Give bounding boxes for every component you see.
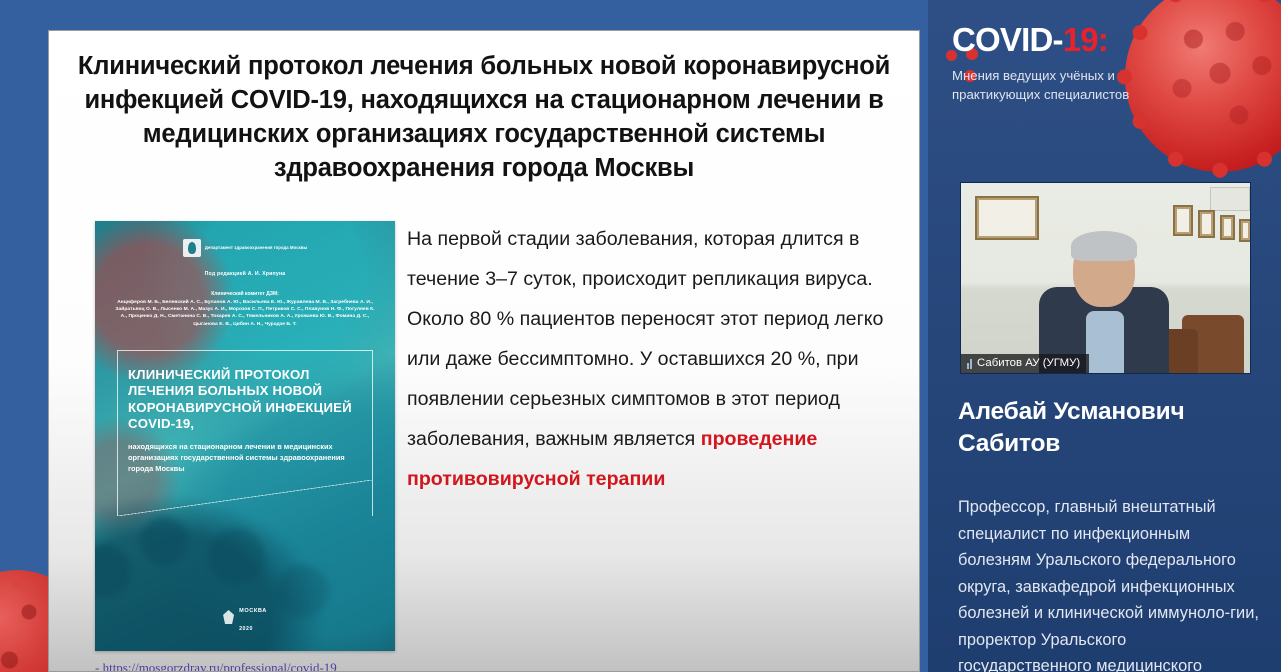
video-participant-name: Сабитов АУ (УГМУ) [977,357,1080,369]
book-editor-line: Под редакцией А. И. Хрипуна [111,271,379,277]
slide-paragraph-text: На первой стадии заболевания, которая дл… [407,228,883,450]
book-cover-column: Департамент здравоохранения города Москв… [49,191,399,671]
department-logo: Департамент здравоохранения города Москв… [111,239,379,257]
slide-content: Департамент здравоохранения города Москв… [49,191,919,671]
speaker-hair-icon [1071,231,1137,261]
book-imprint: МОСКВА 2020 [95,599,395,635]
slide-title: Клинический протокол лечения больных нов… [75,49,893,185]
book-cover-image: Департамент здравоохранения города Москв… [95,221,395,651]
wall-frame-icon [1173,205,1193,236]
book-city: МОСКВА [239,608,267,614]
speaker-name: Алебай Усманович Сабитов [958,396,1257,460]
speaker-bio: Профессор, главный внештатный специалист… [958,494,1263,672]
wall-frame-icon [1220,215,1235,240]
publisher-emblem-icon [223,610,234,624]
video-participant-tile[interactable]: Сабитов АУ (УГМУ) [960,182,1251,374]
department-emblem-icon [183,239,201,257]
slide-paragraph: На первой стадии заболевания, которая дл… [399,191,919,671]
wall-frame-icon [1198,210,1215,238]
brand-subtitle: Мнения ведущих учёных и практикующих спе… [952,66,1167,104]
book-committee-heading: Клинический комитет ДЗМ: [111,291,379,297]
book-sub-title: находящихся на стационарном лечении в ме… [128,441,362,474]
brand-title: COVID-19: [952,22,1281,58]
brand-title-red: 19: [1063,21,1108,58]
book-main-title: КЛИНИЧЕСКИЙ ПРОТОКОЛ ЛЕЧЕНИЯ БОЛЬНЫХ НОВ… [128,367,362,433]
slide-card: Клинический протокол лечения больных нов… [48,30,920,672]
speaker-shirt-icon [1086,311,1124,373]
book-title-frame: КЛИНИЧЕСКИЙ ПРОТОКОЛ ЛЕЧЕНИЯ БОЛЬНЫХ НОВ… [117,350,373,480]
book-year: 2020 [239,626,253,632]
brand-title-white: COVID- [952,21,1063,58]
speaker-panel: COVID-19: Мнения ведущих учёных и практи… [928,0,1281,672]
panel-branding: COVID-19: Мнения ведущих учёных и практи… [928,0,1281,104]
wall-certificate-icon [975,196,1039,240]
source-link[interactable]: - https://mosgorzdrav.ru/professional/co… [95,660,337,672]
presentation-stage: Клинический протокол лечения больных нов… [0,0,1281,672]
book-committee-list: Анциферов М. Б., Белевский А. С., Булано… [111,299,379,328]
wall-frame-icon [1239,219,1251,242]
wall-air-conditioner-icon [1210,187,1250,211]
audio-level-icon [967,358,972,369]
department-logo-text: Департамент здравоохранения города Москв… [205,245,307,250]
video-participant-label: Сабитов АУ (УГМУ) [961,354,1089,373]
